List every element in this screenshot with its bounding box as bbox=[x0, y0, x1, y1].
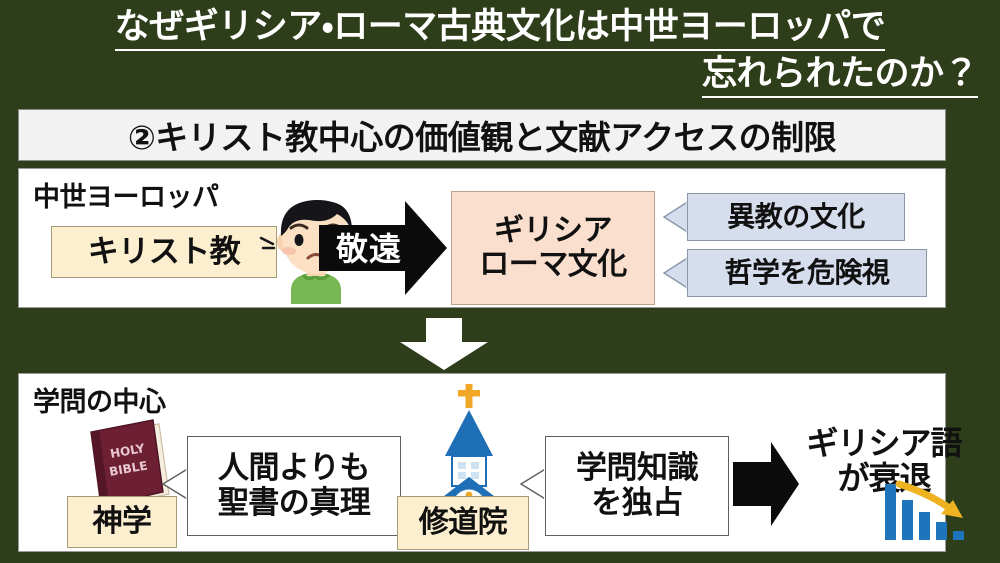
panel-medieval-europe: 中世ヨーロッパ キリスト教 bbox=[18, 168, 946, 308]
callout-tail-icon bbox=[517, 464, 547, 504]
callout-pagan-culture-text: 異教の文化 bbox=[687, 193, 905, 241]
title-line-2-text: 忘れられたのか？ bbox=[702, 54, 978, 98]
declining-bar-chart-icon bbox=[879, 474, 971, 546]
subtitle-bar: ②キリスト教中心の価値観と文献アクセスの制限 bbox=[18, 109, 946, 161]
callout-knowledge-monopoly: 学問知識 を独占 bbox=[517, 436, 729, 536]
slide-canvas: なぜギリシア・ローマ古典文化は中世ヨーロッパで 忘れられたのか？ ②キリスト教中… bbox=[0, 0, 1000, 563]
right-arrow-icon bbox=[733, 436, 799, 532]
panel-centers-of-learning: 学問の中心 HOLY BIBLE 神学 人間よりも 聖書の真理 bbox=[18, 373, 946, 552]
subtitle-text: ②キリスト教中心の価値観と文献アクセスの制限 bbox=[128, 111, 836, 159]
title-line-1: なぜギリシア・ローマ古典文化は中世ヨーロッパで bbox=[0, 4, 1000, 51]
slide-title: なぜギリシア・ローマ古典文化は中世ヨーロッパで 忘れられたのか？ bbox=[0, 4, 1000, 98]
callout-tail-icon bbox=[159, 464, 189, 504]
box-christianity: キリスト教 bbox=[51, 226, 277, 278]
callout-philosophy-danger: 哲学を危険視 bbox=[659, 249, 927, 297]
box-greco-roman-culture: ギリシア ローマ文化 bbox=[451, 191, 655, 305]
panel-top-heading: 中世ヨーロッパ bbox=[33, 175, 219, 214]
panel-bottom-heading: 学問の中心 bbox=[33, 380, 166, 419]
arrow-avoidance-label: 敬遠 bbox=[321, 224, 417, 270]
callout-bible-truth: 人間よりも 聖書の真理 bbox=[159, 436, 401, 536]
callout-tail-icon bbox=[659, 256, 689, 290]
callout-pagan-culture: 異教の文化 bbox=[659, 193, 905, 241]
callout-tail-icon bbox=[659, 200, 689, 234]
title-line-1-text: なぜギリシア・ローマ古典文化は中世ヨーロッパで bbox=[115, 7, 885, 51]
callout-knowledge-monopoly-text: 学問知識 を独占 bbox=[545, 436, 729, 536]
callout-bible-truth-text: 人間よりも 聖書の真理 bbox=[187, 436, 401, 536]
callout-philosophy-danger-text: 哲学を危険視 bbox=[687, 249, 927, 297]
box-monastery: 修道院 bbox=[397, 496, 529, 550]
down-arrow-icon bbox=[396, 318, 492, 370]
title-line-2: 忘れられたのか？ bbox=[0, 51, 1000, 98]
